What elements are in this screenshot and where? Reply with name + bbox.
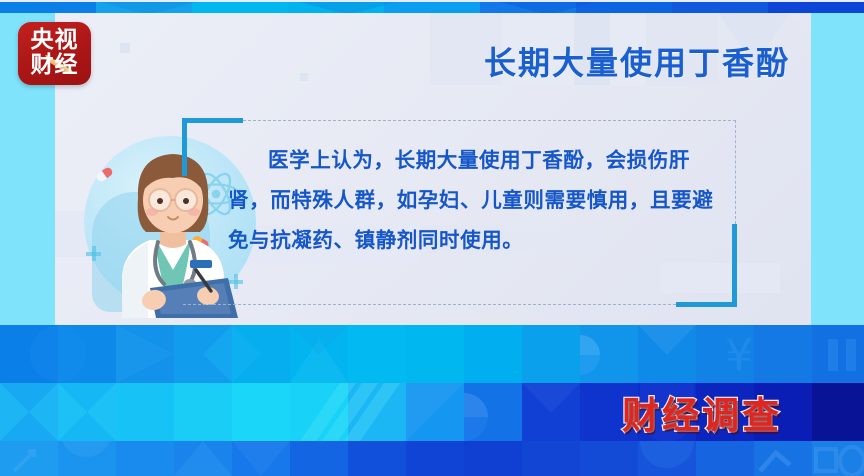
svg-text:¥: ¥: [725, 330, 753, 381]
right-color-band: [811, 13, 864, 325]
frame-dashed-bottom: [183, 304, 736, 305]
broadcast-frame: 央视 财经 长期大量使用丁香酚: [0, 0, 864, 476]
quote-body-text: 医学上认为，长期大量使用丁香酚，会损伤肝肾，而特殊人群，如孕妇、儿童则需要慎用，…: [228, 140, 728, 260]
program-logo: 财经调查: [622, 385, 782, 439]
logo-line-1: 央视: [18, 28, 91, 53]
page-title: 长期大量使用丁香酚: [484, 38, 790, 84]
top-mosaic-strip: [0, 0, 864, 13]
logo-line-2: 财经: [18, 53, 91, 78]
frame-dashed-top: [183, 120, 736, 121]
cctv-finance-logo: 央视 财经: [18, 22, 91, 85]
top-mosaic-svg: [0, 2, 864, 13]
